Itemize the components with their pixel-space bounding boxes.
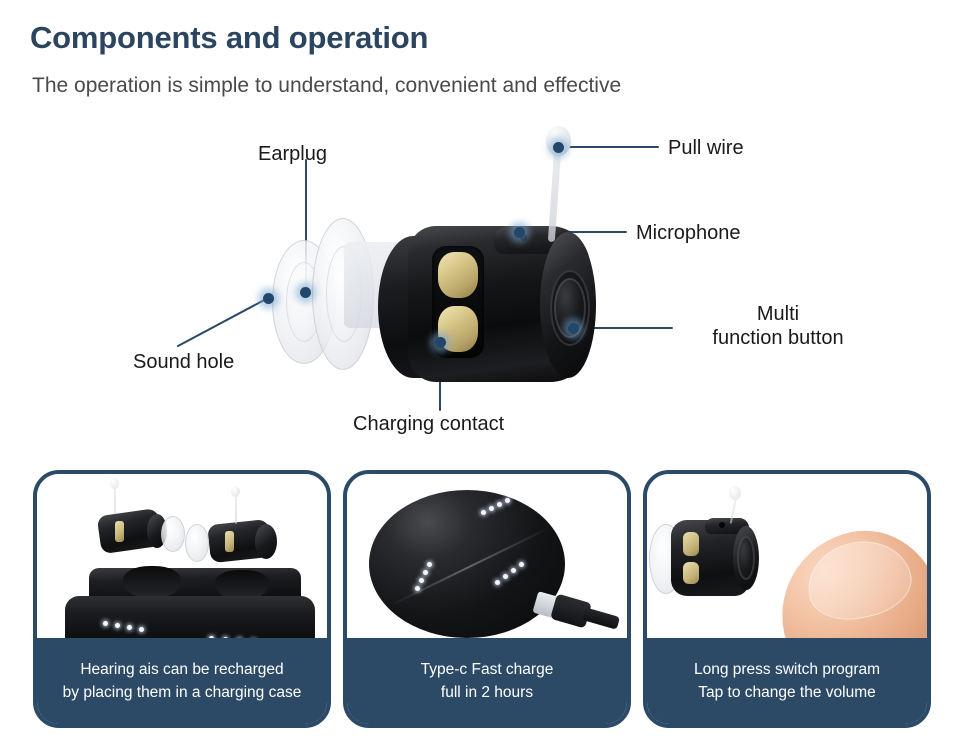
- fast-charge-illustration: [347, 474, 627, 650]
- callout-dot-earplug: [300, 287, 311, 298]
- callout-label-charging-contact: Charging contact: [353, 412, 504, 436]
- caption-line-2: Tap to change the volume: [698, 684, 876, 701]
- charging-puck: [369, 490, 565, 638]
- feature-panel-button-control-caption: Long press switch program Tap to change …: [647, 638, 927, 724]
- bud3-contact-lower: [683, 562, 699, 584]
- puck-led-10: [503, 574, 508, 579]
- bud3-multi-function-button[interactable]: [737, 536, 755, 580]
- puck-led-8: [427, 562, 432, 567]
- case-led-4: [139, 627, 144, 632]
- feature-panel-button-control[interactable]: Long press switch program Tap to change …: [643, 470, 931, 728]
- page-title: Components and operation: [30, 20, 428, 56]
- earbud-left-contact: [115, 521, 124, 542]
- callout-label-multi-function-button: Multi function button: [668, 302, 888, 351]
- charging-case-illustration: [37, 474, 327, 650]
- callout-label-earplug: Earplug: [258, 142, 327, 166]
- charging-contact-upper: [438, 252, 478, 298]
- charging-case-cradle-left: [123, 566, 181, 596]
- caption-line-1: Long press switch program: [694, 661, 880, 678]
- callout-dot-multi-function-button: [568, 323, 579, 334]
- feature-panel-fast-charge[interactable]: Type-c Fast charge full in 2 hours: [343, 470, 631, 728]
- puck-led-2: [489, 506, 494, 511]
- callout-dot-pull-wire: [553, 142, 564, 153]
- product-infographic: Components and operation The operation i…: [0, 0, 970, 752]
- puck-led-5: [415, 586, 420, 591]
- callout-label-mfb-line2: function button: [668, 326, 888, 350]
- callout-dot-microphone: [514, 227, 525, 238]
- caption-line-2: full in 2 hours: [441, 684, 533, 701]
- bud3-microphone-hole: [719, 522, 725, 528]
- usb-c-cable: [582, 607, 620, 629]
- callout-dot-charging-contact: [435, 337, 446, 348]
- callout-label-microphone: Microphone: [636, 221, 741, 245]
- hearing-aid-diagram: Earplug Sound hole Charging contact Pull…: [0, 110, 970, 460]
- case-led-3: [127, 625, 132, 630]
- callout-dot-sound-hole: [263, 293, 274, 304]
- callout-label-sound-hole: Sound hole: [133, 350, 234, 374]
- earbud-right-contact: [225, 531, 234, 552]
- earbud-right-dome: [185, 524, 209, 562]
- callout-label-mfb-line1: Multi: [668, 302, 888, 326]
- earbud-left-dome: [161, 516, 185, 552]
- callout-label-pull-wire: Pull wire: [668, 136, 744, 160]
- earbud-right-cap: [255, 524, 277, 559]
- caption-line-2: by placing them in a charging case: [63, 684, 302, 701]
- feature-panel-fast-charge-caption: Type-c Fast charge full in 2 hours: [347, 638, 627, 724]
- puck-led-9: [495, 580, 500, 585]
- button-control-illustration: [647, 474, 927, 650]
- page-subtitle: The operation is simple to understand, c…: [32, 74, 621, 98]
- feature-panel-charging-case-caption: Hearing ais can be recharged by placing …: [37, 638, 327, 724]
- puck-led-3: [497, 502, 502, 507]
- case-led-2: [115, 623, 120, 628]
- charging-case-cradle-right: [215, 570, 269, 598]
- case-led-1: [103, 621, 108, 626]
- caption-line-1: Hearing ais can be recharged: [80, 661, 283, 678]
- bud3-pull-wire-tip: [729, 486, 741, 500]
- puck-led-4: [505, 498, 510, 503]
- caption-line-1: Type-c Fast charge: [421, 661, 554, 678]
- earbud-left-pull-wire-tip: [110, 478, 119, 489]
- puck-led-1: [481, 510, 486, 515]
- feature-panel-charging-case[interactable]: Hearing ais can be recharged by placing …: [33, 470, 331, 728]
- puck-led-6: [419, 578, 424, 583]
- puck-led-7: [423, 570, 428, 575]
- puck-led-12: [519, 562, 524, 567]
- puck-led-11: [511, 568, 516, 573]
- earbud-right-pull-wire-tip: [231, 486, 240, 497]
- bud3-contact-upper: [683, 532, 699, 556]
